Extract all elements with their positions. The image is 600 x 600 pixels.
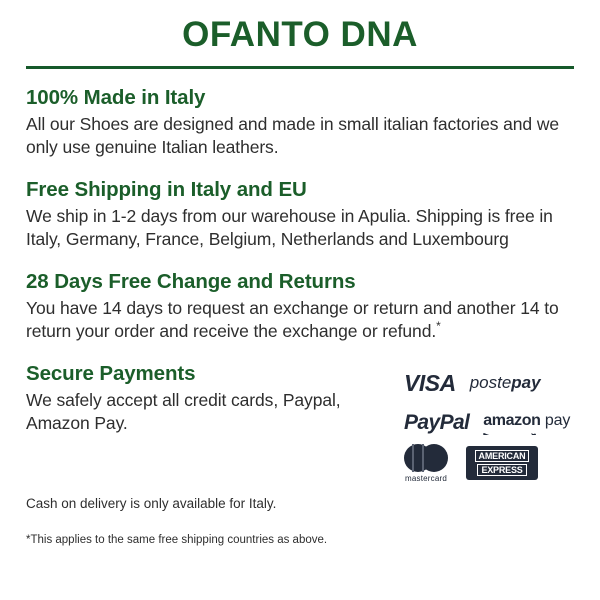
american-express-icon: AMERICAN EXPRESS	[466, 446, 538, 480]
header: OFANTO DNA	[0, 0, 600, 69]
section-free-shipping: Free Shipping in Italy and EU We ship in…	[26, 177, 574, 251]
section-body-text: You have 14 days to request an exchange …	[26, 298, 559, 341]
header-divider	[26, 66, 574, 69]
mastercard-circle-overlap	[412, 444, 424, 472]
paypal-icon: PayPal	[404, 411, 469, 435]
footnote-marker: *	[436, 319, 441, 333]
payment-logo-row-1: VISA postepay	[404, 365, 584, 401]
info-sections: 100% Made in Italy All our Shoes are des…	[0, 85, 600, 343]
amazon-pay-label: pay	[545, 412, 570, 429]
section-heading: 100% Made in Italy	[26, 85, 574, 111]
amazon-label: amazon	[483, 412, 540, 429]
payment-logos: VISA postepay PayPal amazon pay	[404, 361, 584, 481]
mastercard-icon: mastercard	[404, 444, 448, 483]
amazon-pay-cell: amazon pay	[483, 413, 570, 434]
ofanto-dna-info-panel: OFANTO DNA 100% Made in Italy All our Sh…	[0, 0, 600, 600]
postepay-icon: postepay	[470, 373, 541, 393]
postepay-label-light: poste	[470, 373, 512, 392]
postepay-label-bold: pay	[511, 373, 540, 392]
american-express-cell: AMERICAN EXPRESS	[466, 446, 538, 480]
postepay-cell: postepay	[470, 373, 541, 393]
amex-line-1: AMERICAN	[475, 450, 530, 462]
section-body: We ship in 1-2 days from our warehouse i…	[26, 205, 574, 251]
amazon-pay-icon: amazon pay	[483, 413, 570, 434]
section-heading: 28 Days Free Change and Returns	[26, 269, 574, 295]
mastercard-cell: mastercard	[404, 444, 448, 483]
section-heading: Free Shipping in Italy and EU	[26, 177, 574, 203]
section-made-in-italy: 100% Made in Italy All our Shoes are des…	[26, 85, 574, 159]
visa-cell: VISA	[404, 370, 456, 397]
amazon-smile-arc	[483, 428, 537, 435]
section-body: All our Shoes are designed and made in s…	[26, 113, 574, 159]
mastercard-circles	[404, 444, 448, 472]
visa-icon: VISA	[404, 370, 456, 397]
section-heading: Secure Payments	[26, 361, 396, 387]
section-body: We safely accept all credit cards, Paypa…	[26, 389, 396, 435]
footnote-cash-on-delivery: Cash on delivery is only available for I…	[0, 495, 600, 513]
section-body: You have 14 days to request an exchange …	[26, 297, 574, 343]
paypal-cell: PayPal	[404, 411, 469, 435]
footnote-shipping-countries: *This applies to the same free shipping …	[0, 533, 600, 548]
section-secure-payments: Secure Payments We safely accept all cre…	[0, 361, 600, 481]
mastercard-label: mastercard	[405, 474, 447, 483]
payment-logo-row-3: mastercard AMERICAN EXPRESS	[404, 445, 584, 481]
secure-payments-text: Secure Payments We safely accept all cre…	[26, 361, 396, 435]
page-title: OFANTO DNA	[26, 14, 574, 56]
section-change-and-returns: 28 Days Free Change and Returns You have…	[26, 269, 574, 343]
mastercard-circle-right	[420, 444, 448, 472]
payment-logo-row-2: PayPal amazon pay	[404, 405, 584, 441]
amex-line-2: EXPRESS	[477, 464, 526, 476]
